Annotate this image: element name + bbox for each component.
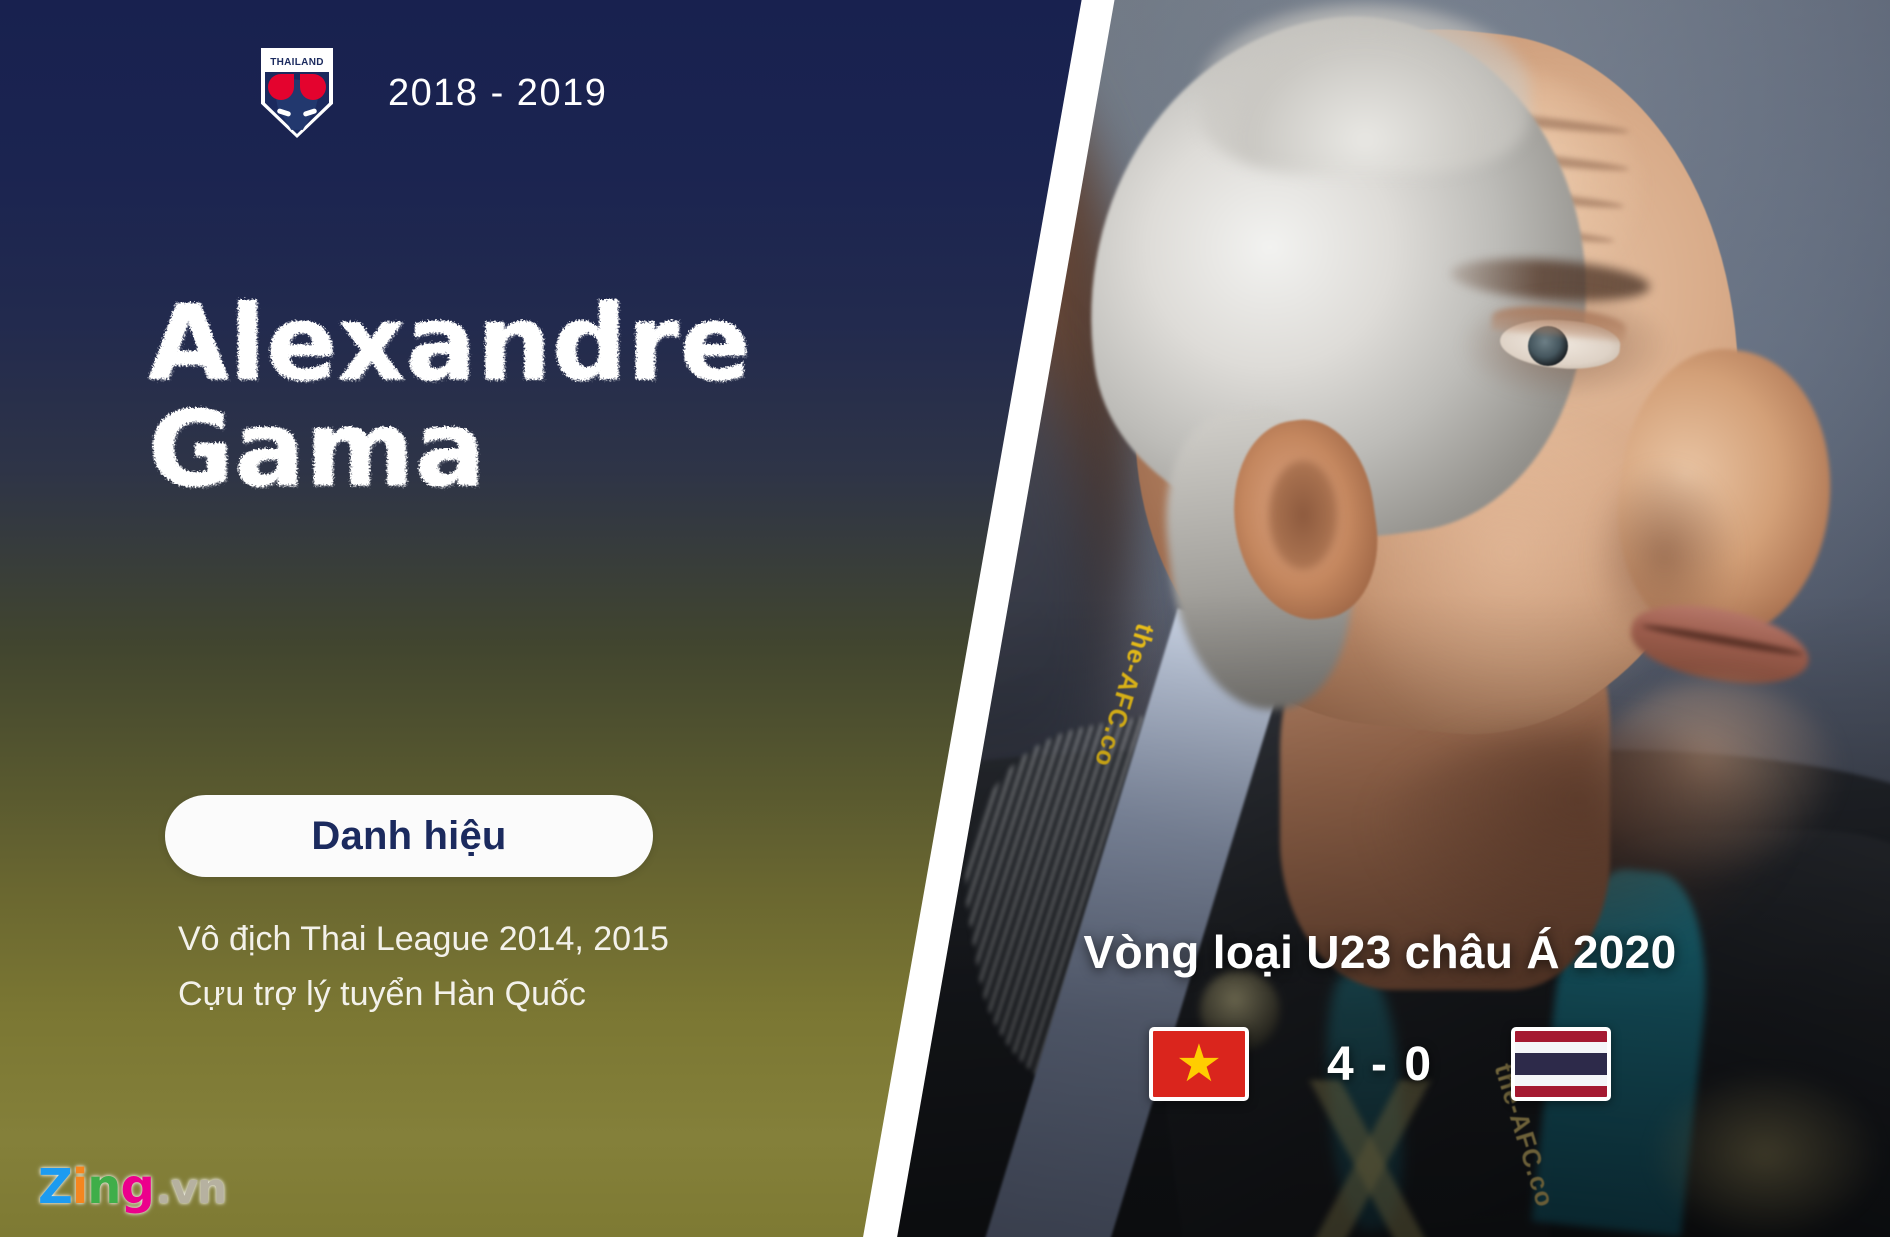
honours-section-label: Danh hiệu <box>311 814 506 859</box>
match-title: Vòng loại U23 châu Á 2020 <box>1060 925 1700 979</box>
honours-section-pill[interactable]: Danh hiệu <box>165 795 653 877</box>
honours-list: Vô địch Thai League 2014, 2015 Cựu trợ l… <box>178 912 669 1022</box>
coach-profile-card: the-AFC.co the-AFC.co THAILAND 2018 - 20… <box>0 0 1890 1237</box>
coach-last-name: Gama <box>148 396 868 502</box>
logo-letter-n: n <box>87 1159 120 1215</box>
thailand-flag-icon <box>1511 1027 1611 1101</box>
match-result-overlay: Vòng loại U23 châu Á 2020 ★ 4 - 0 <box>1060 925 1700 1101</box>
season-years: 2018 - 2019 <box>388 72 607 115</box>
coach-name: Alexandre Gama <box>148 290 868 502</box>
vietnam-flag-icon: ★ <box>1149 1027 1249 1101</box>
score-value: 4 - 0 <box>1327 1037 1433 1092</box>
score-row: ★ 4 - 0 <box>1060 1027 1700 1101</box>
list-item: Vô địch Thai League 2014, 2015 <box>178 912 669 967</box>
logo-letter-z: Z <box>38 1159 72 1215</box>
coach-first-name: Alexandre <box>148 290 868 396</box>
list-item: Cựu trợ lý tuyển Hàn Quốc <box>178 967 669 1022</box>
header: THAILAND 2018 - 2019 <box>261 48 607 138</box>
logo-letter-i: i <box>72 1159 87 1215</box>
thailand-football-crest-icon: THAILAND <box>261 48 333 138</box>
logo-letter-g: g <box>120 1159 153 1215</box>
vietnam-star-icon: ★ <box>1176 1038 1223 1090</box>
crest-label: THAILAND <box>270 57 324 68</box>
logo-tld: .vn <box>156 1164 226 1213</box>
zing-vn-logo[interactable]: Z i n g .vn <box>38 1159 226 1215</box>
